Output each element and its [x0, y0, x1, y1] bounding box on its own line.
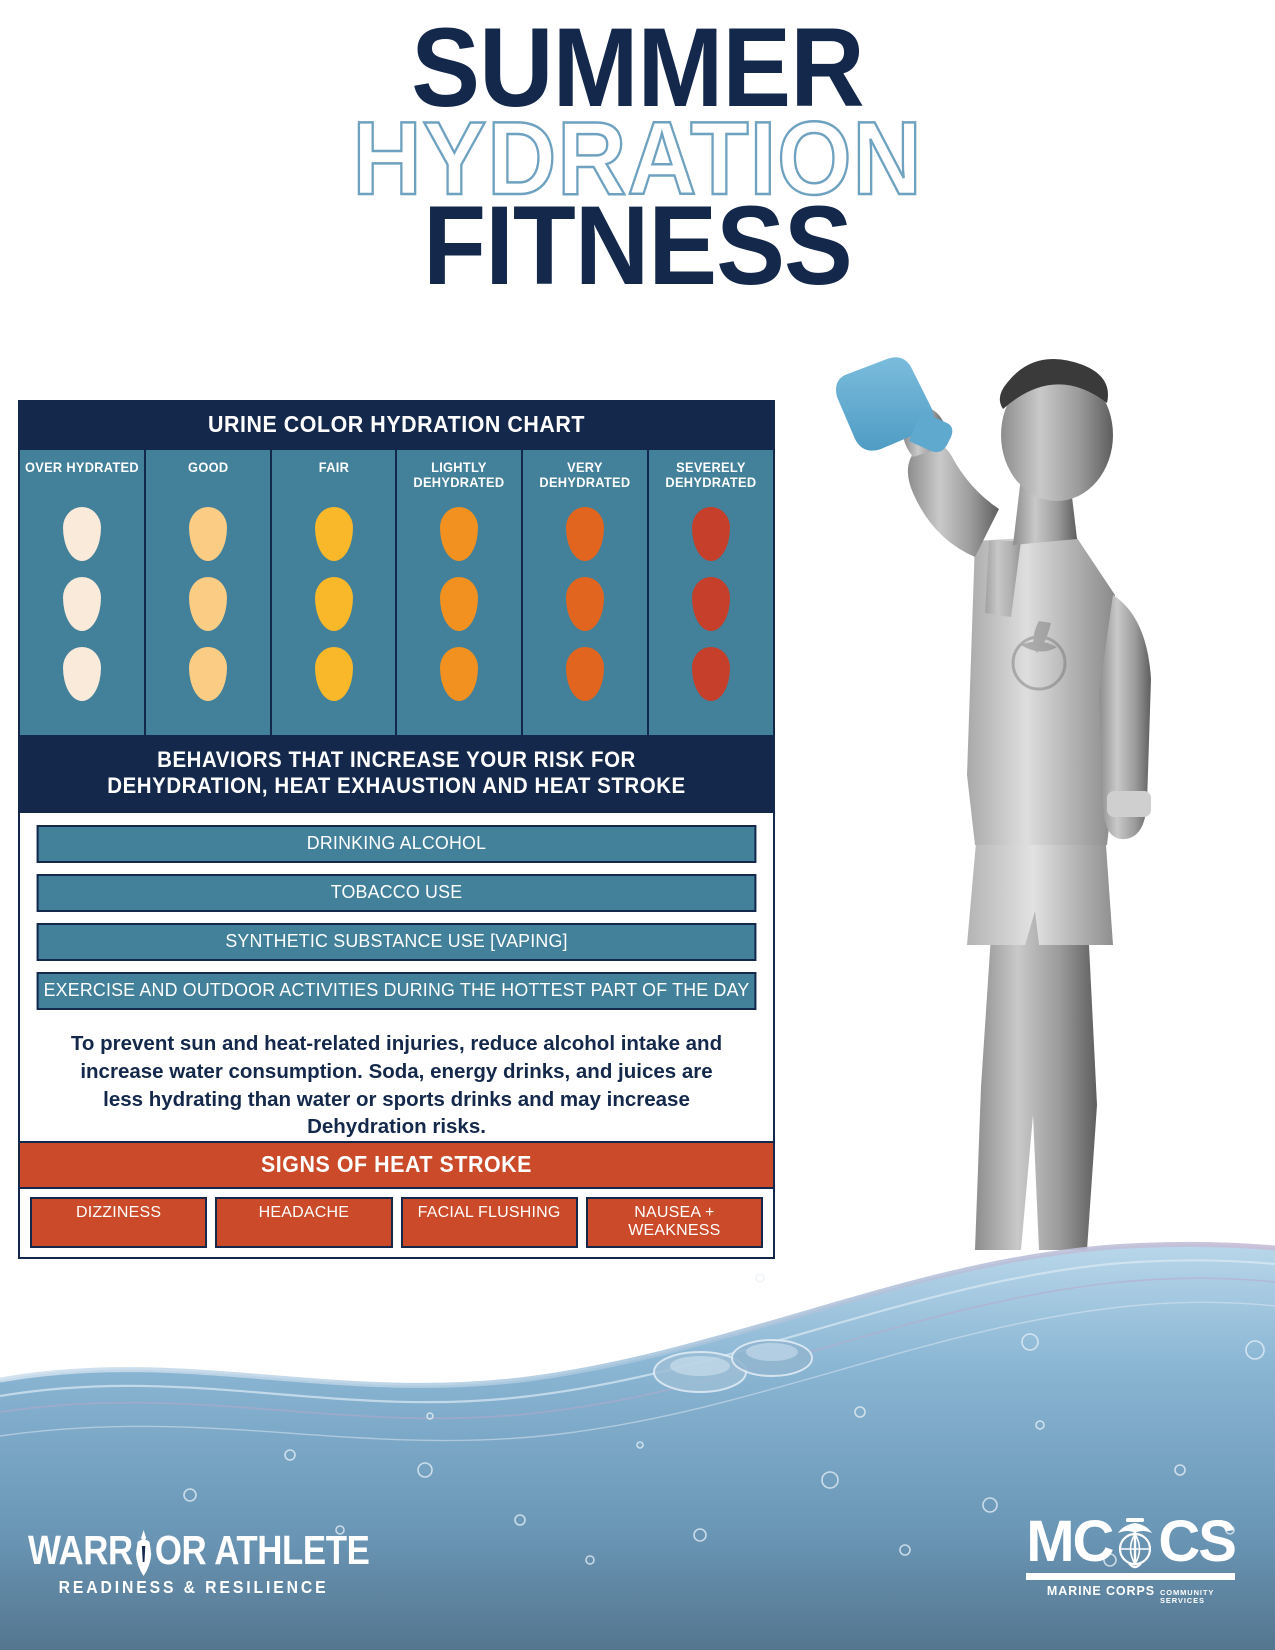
droplet-icon — [315, 647, 353, 701]
behaviors-body: DRINKING ALCOHOL TOBACCO USE SYNTHETIC S… — [18, 813, 775, 1170]
heat-stroke-panel: SIGNS OF HEAT STROKE DIZZINESS HEADACHE … — [18, 1141, 775, 1259]
title-line-summer: SUMMER — [51, 18, 1224, 119]
droplet-icon — [189, 647, 227, 701]
droplet-icon — [440, 577, 478, 631]
urine-column-very-dehydrated: VERY DEHYDRATED — [523, 450, 649, 736]
behaviors-header: BEHAVIORS THAT INCREASE YOUR RISK FOR DE… — [18, 735, 775, 813]
mccs-subtitle: MARINE CORPS COMMUNITY SERVICES — [1026, 1584, 1235, 1606]
drop-group — [189, 507, 227, 701]
drop-group — [315, 507, 353, 701]
heat-stroke-header-text: SIGNS OF HEAT STROKE — [52, 1151, 741, 1178]
heat-stroke-sign-headache: HEADACHE — [215, 1197, 392, 1248]
heat-stroke-sign-dizziness: DIZZINESS — [30, 1197, 207, 1248]
urine-column-label: GOOD — [188, 460, 228, 494]
droplet-icon — [692, 507, 730, 561]
behavior-item-tobacco-use: TOBACCO USE — [37, 874, 757, 912]
urine-column-label: FAIR — [318, 460, 348, 494]
droplet-icon — [315, 507, 353, 561]
droplet-icon — [440, 507, 478, 561]
urine-column-severely-dehydrated: SEVERELY DEHYDRATED — [649, 450, 773, 736]
droplet-icon — [440, 647, 478, 701]
warrior-athlete-part2: OR ATHLETE — [155, 1527, 370, 1574]
urine-chart-header-text: URINE COLOR HYDRATION CHART — [50, 411, 743, 438]
mccs-part1: MC — [1026, 1516, 1112, 1568]
droplet-icon — [692, 577, 730, 631]
drop-group — [440, 507, 478, 701]
urine-column-good: GOOD — [146, 450, 272, 736]
droplet-icon — [566, 507, 604, 561]
urine-column-fair: FAIR — [272, 450, 398, 736]
urine-column-label: SEVERELY DEHYDRATED — [652, 460, 770, 494]
eagle-globe-anchor-icon — [1112, 1515, 1158, 1569]
droplet-icon — [566, 577, 604, 631]
droplet-icon — [189, 577, 227, 631]
urine-chart-body: OVER HYDRATED GOOD FAIR LI — [18, 450, 775, 738]
urine-column-over-hydrated: OVER HYDRATED — [20, 450, 146, 736]
drop-group — [63, 507, 101, 701]
warrior-athlete-wordmark: WARR OR ATHLETE — [28, 1527, 369, 1574]
title-line-fitness: FITNESS — [51, 196, 1224, 297]
droplet-icon — [692, 647, 730, 701]
heat-stroke-header: SIGNS OF HEAT STROKE — [18, 1141, 775, 1189]
mccs-subtitle-line1: MARINE CORPS — [1047, 1584, 1155, 1598]
behaviors-header-line-1: BEHAVIORS THAT INCREASE YOUR RISK FOR — [54, 747, 739, 773]
behaviors-note-text: To prevent sun and heat-related injuries… — [33, 1010, 760, 1152]
drop-group — [566, 507, 604, 701]
droplet-icon — [189, 507, 227, 561]
urine-column-label: OVER HYDRATED — [25, 460, 139, 494]
mccs-part2: CS — [1158, 1516, 1235, 1568]
mccs-subtitle-services: SERVICES — [1160, 1597, 1214, 1606]
heat-stroke-sign-facial-flushing: FACIAL FLUSHING — [401, 1197, 578, 1248]
behavior-item-drinking-alcohol: DRINKING ALCOHOL — [37, 825, 757, 863]
droplet-icon — [566, 647, 604, 701]
urine-column-label: LIGHTLY DEHYDRATED — [401, 460, 519, 494]
behaviors-panel: BEHAVIORS THAT INCREASE YOUR RISK FOR DE… — [18, 735, 775, 1169]
urine-column-lightly-dehydrated: LIGHTLY DEHYDRATED — [397, 450, 523, 736]
warrior-athlete-subtitle: READINESS & RESILIENCE — [28, 1577, 389, 1598]
droplet-icon — [315, 577, 353, 631]
athlete-photo — [825, 345, 1255, 1275]
behavior-item-synthetic-substance-use: SYNTHETIC SUBSTANCE USE [VAPING] — [37, 923, 757, 961]
droplet-icon — [63, 647, 101, 701]
warrior-athlete-part1: WARR — [28, 1527, 133, 1574]
heat-stroke-body: DIZZINESS HEADACHE FACIAL FLUSHING NAUSE… — [18, 1189, 775, 1259]
mccs-divider — [1026, 1573, 1235, 1580]
urine-column-label: VERY DEHYDRATED — [526, 460, 644, 494]
mccs-logo: MC CS MARINE CORPS COMMUNITY SERVICES — [1026, 1515, 1235, 1606]
mccs-wordmark: MC CS — [1026, 1515, 1235, 1569]
heat-stroke-sign-nausea-weakness: NAUSEA + WEAKNESS — [586, 1197, 763, 1248]
droplet-icon — [63, 507, 101, 561]
warrior-athlete-logo: WARR OR ATHLETE READINESS & RESILIENCE — [28, 1527, 430, 1598]
droplet-icon — [63, 577, 101, 631]
spartan-helmet-icon — [133, 1530, 155, 1576]
urine-color-chart-panel: URINE COLOR HYDRATION CHART OVER HYDRATE… — [18, 400, 775, 738]
mccs-subtitle-stacked: COMMUNITY SERVICES — [1160, 1589, 1214, 1606]
page-title: SUMMER HYDRATION FITNESS — [0, 18, 1275, 297]
behavior-item-exercise-hottest-part-of-day: EXERCISE AND OUTDOOR ACTIVITIES DURING T… — [37, 972, 757, 1010]
title-line-hydration: HYDRATION — [51, 113, 1224, 207]
drop-group — [692, 507, 730, 701]
footer-logos: WARR OR ATHLETE READINESS & RESILIENCE M… — [0, 1460, 1275, 1650]
behaviors-header-line-2: DEHYDRATION, HEAT EXHAUSTION AND HEAT ST… — [54, 773, 739, 799]
urine-chart-header: URINE COLOR HYDRATION CHART — [18, 400, 775, 450]
